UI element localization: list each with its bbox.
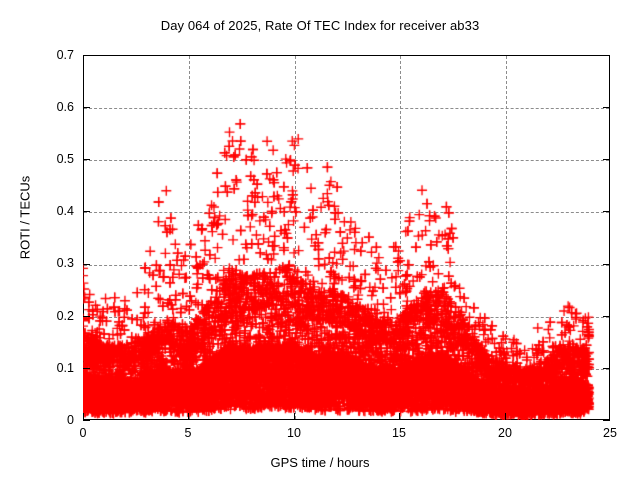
ytick-mark-right-0.3 <box>603 264 610 265</box>
ytick-mark-right-0 <box>603 420 610 421</box>
xtick-label-5: 5 <box>168 426 208 440</box>
xtick-mark-25 <box>609 413 610 420</box>
x-axis-title: GPS time / hours <box>0 455 640 470</box>
ytick-mark-right-0.6 <box>603 107 610 108</box>
ytick-mark-0.4 <box>83 211 90 212</box>
ytick-mark-0 <box>83 420 90 421</box>
xtick-label-20: 20 <box>485 426 525 440</box>
ytick-mark-0.2 <box>83 316 90 317</box>
ytick-mark-right-0.4 <box>603 211 610 212</box>
ytick-mark-0.7 <box>83 55 90 56</box>
ytick-label-0.1: 0.1 <box>14 361 74 375</box>
ytick-mark-right-0.1 <box>603 368 610 369</box>
ytick-label-0.6: 0.6 <box>14 100 74 114</box>
axis-labels: 0.7 0.6 0.5 0.4 0.3 0.2 0.1 0 0 5 10 15 … <box>0 0 640 480</box>
xtick-label-0: 0 <box>63 426 103 440</box>
xtick-mark-15 <box>399 413 400 420</box>
xtick-label-10: 10 <box>274 426 314 440</box>
xtick-label-15: 15 <box>379 426 419 440</box>
ytick-mark-right-0.5 <box>603 159 610 160</box>
xtick-mark-10 <box>294 413 295 420</box>
ytick-label-0.2: 0.2 <box>14 309 74 323</box>
xtick-label-25: 25 <box>590 426 630 440</box>
ytick-label-0.7: 0.7 <box>14 48 74 62</box>
chart-container: Day 064 of 2025, Rate Of TEC Index for r… <box>0 0 640 480</box>
ytick-mark-0.3 <box>83 264 90 265</box>
y-axis-title: ROTI / TECUs <box>18 148 33 288</box>
xtick-mark-20 <box>505 413 506 420</box>
ytick-mark-0.6 <box>83 107 90 108</box>
ytick-mark-0.1 <box>83 368 90 369</box>
ytick-mark-right-0.2 <box>603 316 610 317</box>
ytick-label-0: 0 <box>14 413 74 427</box>
xtick-mark-0 <box>83 413 84 420</box>
ytick-mark-0.5 <box>83 159 90 160</box>
xtick-mark-5 <box>188 413 189 420</box>
